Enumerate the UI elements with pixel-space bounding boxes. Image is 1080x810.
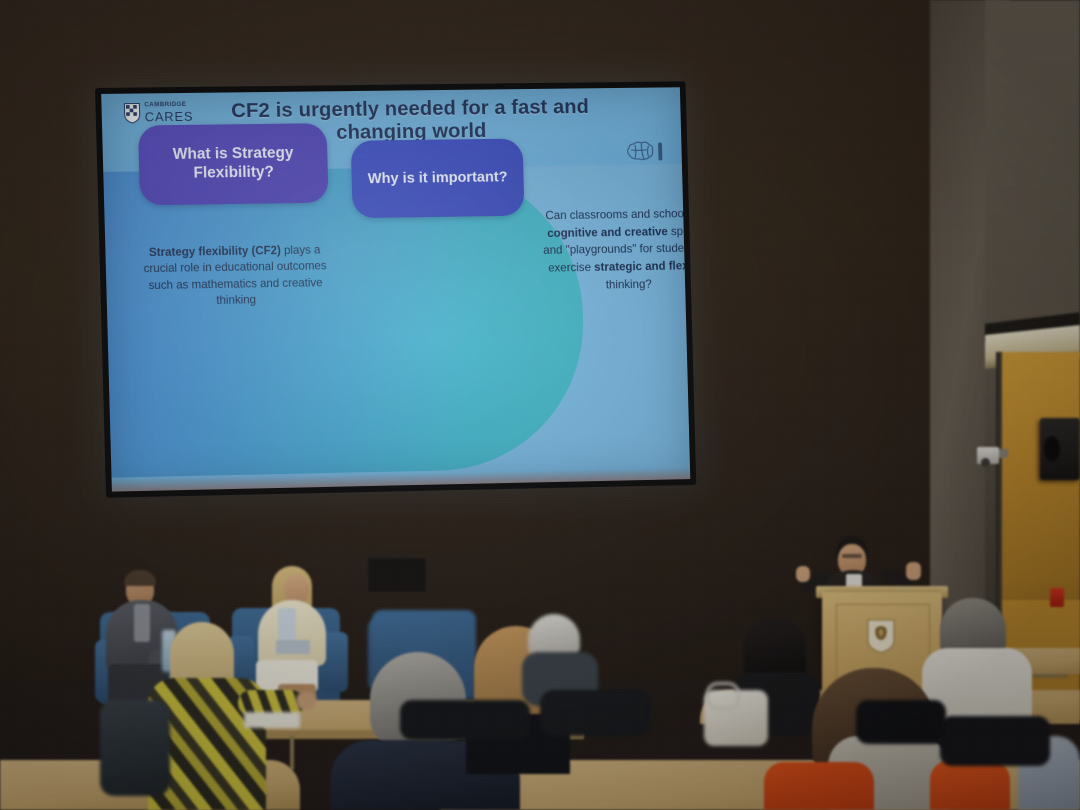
- wall-speaker-icon: [1040, 418, 1080, 480]
- av-wall-panel: [366, 556, 428, 594]
- brain-logo-icon: [623, 139, 666, 165]
- panelist-right-blouse: [278, 608, 296, 642]
- column-3-body: Can classrooms and schools be cognitive …: [539, 205, 690, 295]
- cambridge-shield-icon: [123, 102, 141, 123]
- presenter-right-hand: [906, 562, 921, 580]
- column-3-bold1: cognitive and creative: [547, 224, 668, 240]
- handbag-strap: [706, 682, 740, 710]
- cares-wordmark: CAMBRIDGE CARES: [144, 102, 193, 123]
- security-camera-icon: [977, 447, 999, 464]
- panelist-left-hair: [124, 570, 156, 586]
- fire-alarm-icon: [1050, 588, 1064, 607]
- pill-why-is-it-important: Why is it important?: [351, 139, 525, 219]
- table-notes: [244, 712, 300, 728]
- column-3-lead: Can classrooms and schools be: [545, 206, 690, 222]
- lecture-hall-photo: CAMBRIDGE CARES CF2 is urgently needed f…: [0, 0, 1080, 810]
- column-3-bold2: strategic and flexible: [594, 258, 690, 274]
- column-3-tail: thinking?: [606, 277, 652, 292]
- chair-back-center: [540, 690, 650, 736]
- column-1-bold: Strategy flexibility (CF2): [149, 244, 281, 259]
- pill-2-label: Why is it important?: [368, 169, 508, 187]
- presenter-glasses-icon: [842, 554, 862, 558]
- column-1-body: Strategy flexibility (CF2) plays a cruci…: [135, 242, 335, 311]
- patterned-dress-hand: [296, 692, 316, 710]
- pill-1-label: What is Strategy Flexibility?: [139, 144, 329, 184]
- pill-what-is-strategy-flexibility: What is Strategy Flexibility?: [138, 123, 329, 205]
- panelist-left-shirt: [134, 604, 150, 642]
- projection-screen: CAMBRIDGE CARES CF2 is urgently needed f…: [95, 81, 696, 497]
- cambridge-cares-logo: CAMBRIDGE CARES: [123, 102, 193, 124]
- table-leg: [290, 736, 294, 770]
- panelist-right-paper: [276, 640, 310, 654]
- draped-coat: [100, 700, 170, 796]
- chair-back-center-2: [400, 700, 530, 740]
- institution-crest-icon: [866, 618, 896, 654]
- orange-top-garment-right: [930, 760, 1010, 810]
- orange-top-garment: [764, 762, 874, 810]
- logo-main-text: CARES: [145, 110, 194, 124]
- presenter-left-hand: [796, 566, 810, 582]
- presentation-slide: CAMBRIDGE CARES CF2 is urgently needed f…: [101, 87, 690, 491]
- screen-frame: CAMBRIDGE CARES CF2 is urgently needed f…: [95, 81, 696, 497]
- chair-back-right: [940, 716, 1050, 766]
- logo-top-text: CAMBRIDGE: [144, 102, 193, 109]
- chair-back-right-2: [856, 700, 946, 744]
